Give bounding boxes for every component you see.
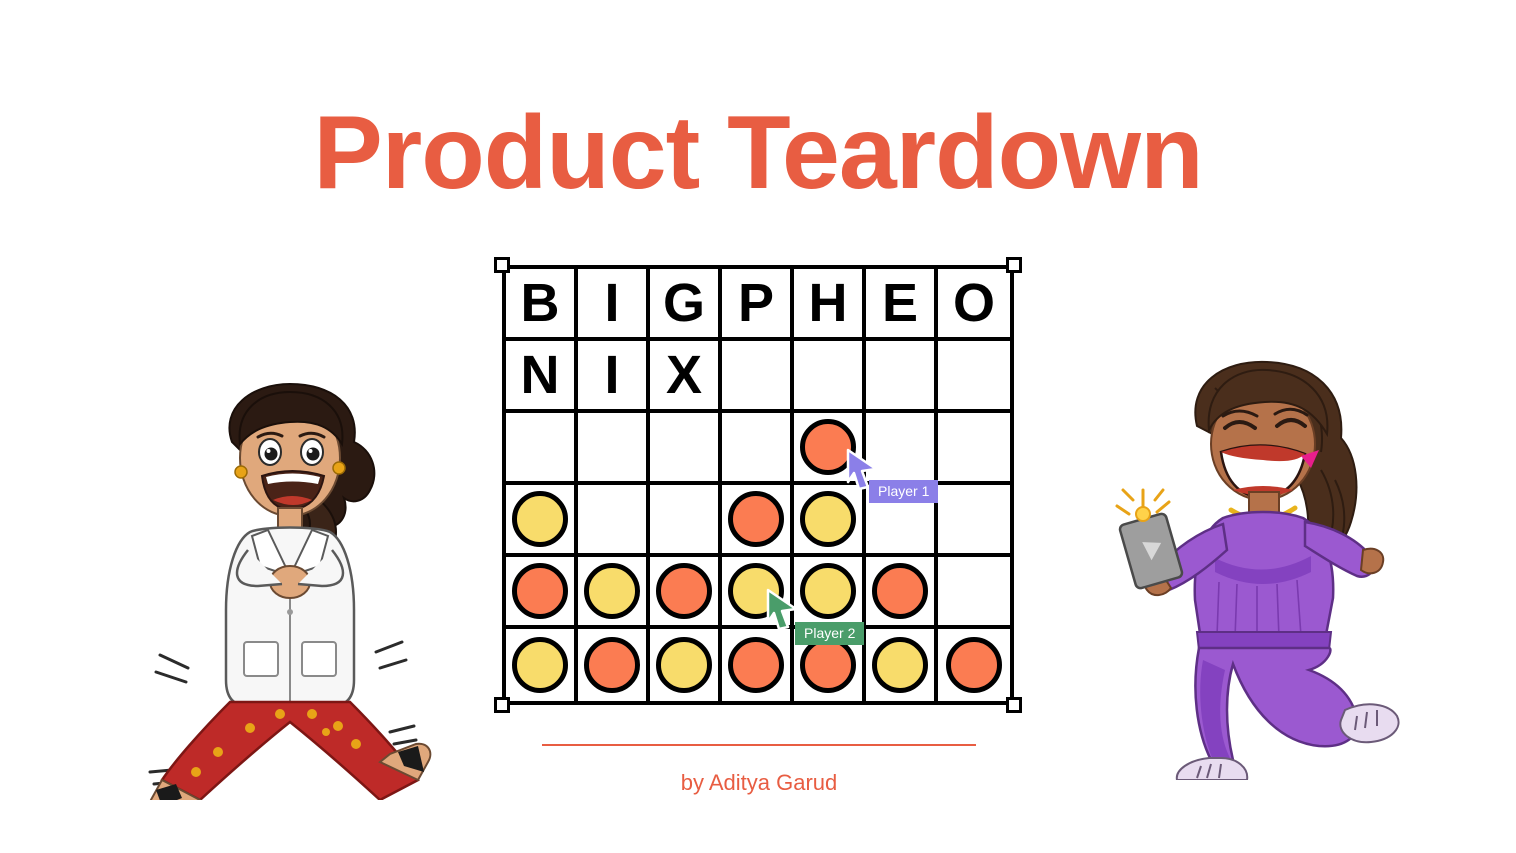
illustration-woman-lab-coat-jumping — [140, 380, 440, 800]
game-disc-orange — [872, 563, 928, 619]
board-cell-disc-yellow-r4c1[interactable] — [506, 485, 578, 557]
selection-handle-top-right[interactable] — [1006, 257, 1022, 273]
game-disc-orange — [728, 491, 784, 547]
board-cell-empty-r5c7[interactable] — [938, 557, 1010, 629]
game-disc-yellow — [512, 491, 568, 547]
board-cell-disc-yellow-r6c3[interactable] — [650, 629, 722, 701]
board-cell-letter-b-r1c1[interactable]: B — [506, 269, 578, 341]
board-cell-empty-r3c3[interactable] — [650, 413, 722, 485]
byline-text: by Aditya Garud — [542, 770, 976, 796]
board-cell-letter-i-r2c2[interactable]: I — [578, 341, 650, 413]
letter-tile: O — [953, 276, 995, 330]
board-cell-empty-r2c5[interactable] — [794, 341, 866, 413]
board-cell-disc-yellow-r6c6[interactable] — [866, 629, 938, 701]
board-cell-disc-orange-r5c1[interactable] — [506, 557, 578, 629]
game-disc-orange — [512, 563, 568, 619]
board-cell-disc-yellow-r4c5[interactable] — [794, 485, 866, 557]
letter-tile: B — [521, 276, 560, 330]
board-cell-empty-r3c2[interactable] — [578, 413, 650, 485]
letter-tile: N — [521, 348, 560, 402]
board-cell-empty-r4c6[interactable] — [866, 485, 938, 557]
game-disc-yellow — [512, 637, 568, 693]
letter-tile: X — [666, 348, 702, 402]
game-disc-orange — [946, 637, 1002, 693]
letter-tile: H — [809, 276, 848, 330]
board-cell-letter-e-r1c6[interactable]: E — [866, 269, 938, 341]
game-disc-yellow — [656, 637, 712, 693]
board-cell-letter-o-r1c7[interactable]: O — [938, 269, 1010, 341]
game-board[interactable]: BIGPHEONIX — [502, 265, 1014, 705]
board-cell-letter-n-r2c1[interactable]: N — [506, 341, 578, 413]
game-disc-yellow — [800, 563, 856, 619]
board-cell-letter-i-r1c2[interactable]: I — [578, 269, 650, 341]
board-cell-empty-r2c4[interactable] — [722, 341, 794, 413]
slide-canvas: Product Teardown — [0, 0, 1516, 853]
board-cell-disc-yellow-r5c2[interactable] — [578, 557, 650, 629]
board-cell-letter-g-r1c3[interactable]: G — [650, 269, 722, 341]
game-disc-orange — [800, 637, 856, 693]
board-cell-disc-yellow-r5c4[interactable] — [722, 557, 794, 629]
selection-handle-bottom-right[interactable] — [1006, 697, 1022, 713]
game-disc-yellow — [728, 563, 784, 619]
letter-tile: I — [604, 348, 619, 402]
game-disc-orange — [800, 419, 856, 475]
board-cell-empty-r2c6[interactable] — [866, 341, 938, 413]
board-cell-disc-orange-r6c7[interactable] — [938, 629, 1010, 701]
board-grid[interactable]: BIGPHEONIX — [502, 265, 1014, 705]
board-cell-empty-r3c1[interactable] — [506, 413, 578, 485]
board-cell-disc-orange-r6c5[interactable] — [794, 629, 866, 701]
game-disc-orange — [656, 563, 712, 619]
illustration-woman-purple-outfit-phone — [1105, 360, 1415, 780]
game-disc-orange — [728, 637, 784, 693]
letter-tile: I — [604, 276, 619, 330]
letter-tile: E — [882, 276, 918, 330]
game-disc-yellow — [872, 637, 928, 693]
board-cell-disc-orange-r6c4[interactable] — [722, 629, 794, 701]
byline-divider — [542, 744, 976, 746]
board-cell-empty-r3c7[interactable] — [938, 413, 1010, 485]
board-cell-disc-orange-r6c2[interactable] — [578, 629, 650, 701]
game-disc-yellow — [800, 491, 856, 547]
board-cell-disc-orange-r5c6[interactable] — [866, 557, 938, 629]
board-cell-empty-r4c7[interactable] — [938, 485, 1010, 557]
board-cell-empty-r4c3[interactable] — [650, 485, 722, 557]
board-cell-disc-orange-r5c3[interactable] — [650, 557, 722, 629]
board-cell-letter-x-r2c3[interactable]: X — [650, 341, 722, 413]
letter-tile: G — [663, 276, 705, 330]
letter-tile: P — [738, 276, 774, 330]
board-cell-disc-yellow-r5c5[interactable] — [794, 557, 866, 629]
board-cell-letter-p-r1c4[interactable]: P — [722, 269, 794, 341]
board-cell-empty-r3c4[interactable] — [722, 413, 794, 485]
board-cell-disc-yellow-r6c1[interactable] — [506, 629, 578, 701]
board-cell-empty-r3c6[interactable] — [866, 413, 938, 485]
selection-handle-top-left[interactable] — [494, 257, 510, 273]
board-cell-disc-orange-r3c5[interactable] — [794, 413, 866, 485]
page-title: Product Teardown — [0, 96, 1516, 210]
game-disc-orange — [584, 637, 640, 693]
game-disc-yellow — [584, 563, 640, 619]
board-cell-empty-r2c7[interactable] — [938, 341, 1010, 413]
board-cell-empty-r4c2[interactable] — [578, 485, 650, 557]
board-cell-letter-h-r1c5[interactable]: H — [794, 269, 866, 341]
board-cell-disc-orange-r4c4[interactable] — [722, 485, 794, 557]
selection-handle-bottom-left[interactable] — [494, 697, 510, 713]
